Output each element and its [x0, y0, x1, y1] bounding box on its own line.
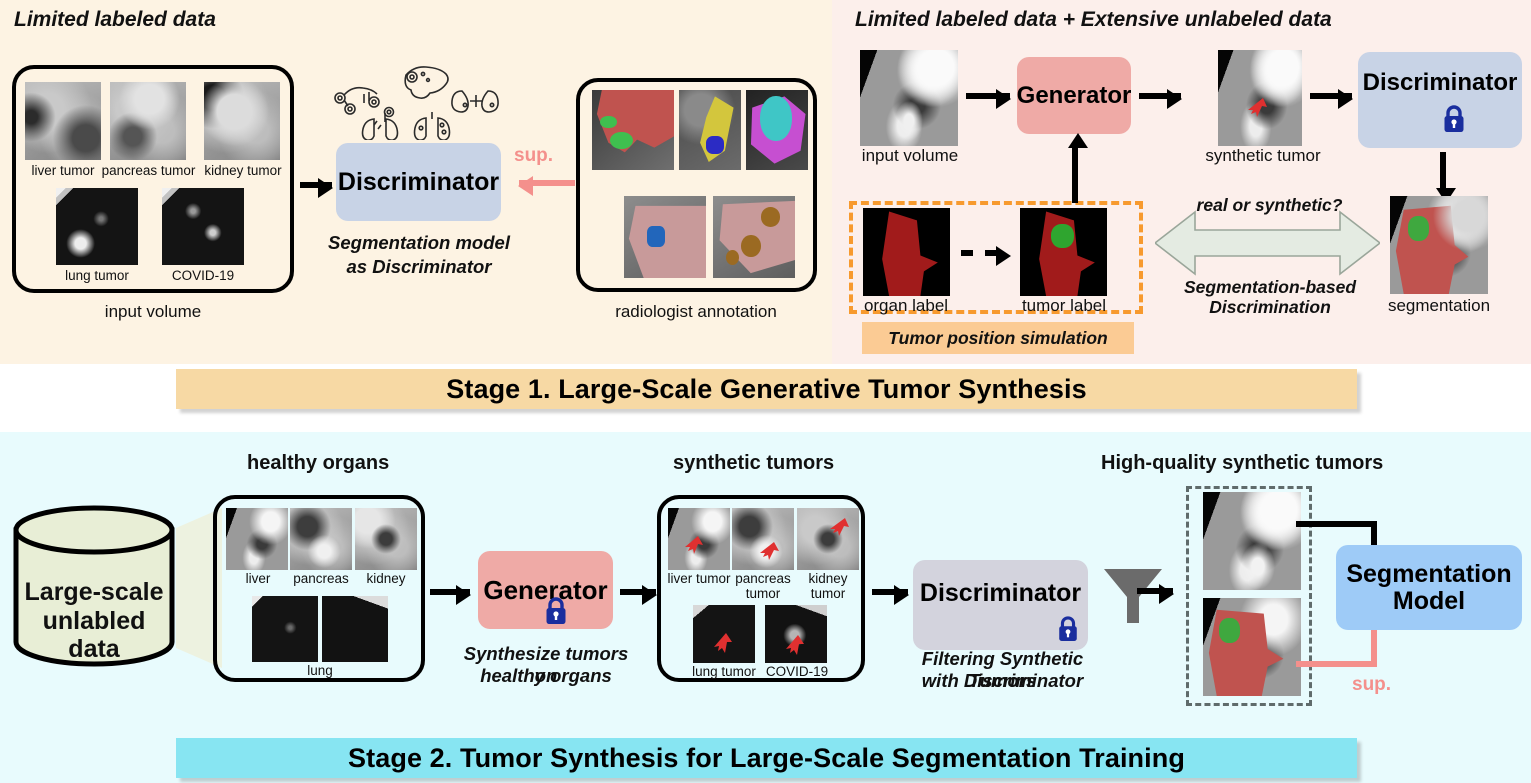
caption-liver-tumor: liver tumor [13, 163, 113, 178]
tile-hq-synthetic-ct [1203, 492, 1301, 590]
real-or-synthetic-label: real or synthetic? [1172, 195, 1367, 216]
caption-lung-tumor: lung tumor [52, 268, 142, 283]
tile-healthy-pancreas [290, 508, 352, 570]
arrow-funnel-to-highquality [1137, 588, 1173, 594]
caption-organ-label: organ label [850, 296, 962, 316]
tile-synth-pancreas-tumor [732, 508, 794, 570]
lung-left-icon [363, 108, 398, 141]
arrow-input-to-generator [966, 93, 1010, 99]
caption-synthetic-tumor: synthetic tumor [1196, 146, 1330, 166]
stage1-left-heading: Limited labeled data [14, 8, 216, 32]
lock-icon-discriminator-stage2 [1056, 614, 1080, 649]
caption-synth-lung-tumor: lung tumor [686, 664, 762, 679]
tile-healthy-kidney [355, 508, 417, 570]
segmentation-model-line2: Model [1393, 588, 1465, 615]
stage1-banner: Stage 1. Large-Scale Generative Tumor Sy… [176, 369, 1357, 409]
tile-synthetic-tumor [1218, 50, 1302, 146]
segmentation-model-line1: Segmentation [1346, 561, 1511, 588]
organ-icons-cluster [322, 55, 512, 140]
red-arrow-marker-covid [765, 605, 827, 663]
caption-healthy-liver: liver [228, 571, 288, 586]
segmentation-model-box[interactable]: Segmentation Model [1336, 545, 1522, 630]
generator-box-stage1[interactable]: Generator [1017, 57, 1131, 134]
caption-pancreas-tumor: pancreas tumor [100, 163, 197, 178]
red-arrow-marker-synthetic [1218, 50, 1302, 146]
caption-healthy-pancreas: pancreas [286, 571, 356, 586]
high-quality-heading: High-quality synthetic tumors [1101, 452, 1383, 475]
caption-synth-liver-tumor: liver tumor [663, 571, 735, 586]
annot-lung-tumor-tile [624, 196, 706, 278]
discriminator-box-stage1[interactable]: Discriminator [336, 143, 501, 221]
caption-synth-kidney-tumor: kidney tumor [793, 571, 863, 601]
caption-covid19: COVID-19 [158, 268, 248, 283]
tile-kidney-tumor [204, 82, 280, 160]
database-label-line1: Large-scale [25, 578, 164, 606]
annot-kidney-tile [746, 90, 808, 170]
caption-synth-pancreas-tumor: pancreas tumor [728, 571, 798, 601]
caption-pipeline-input-volume: input volume [845, 146, 975, 166]
arrow-organs-to-generator [430, 589, 470, 595]
stage1-right-heading: Limited labeled data + Extensive unlabel… [855, 8, 1332, 32]
lock-icon-discriminator-pipeline [1441, 103, 1467, 140]
caption-segmentation: segmentation [1376, 296, 1502, 316]
arrow-generator-to-synthetic-tumors [620, 589, 656, 595]
annot-pancreas-tile [679, 90, 741, 170]
arrow-synthetic-to-discriminator-stage2 [872, 589, 908, 595]
supervision-label-stage1: sup. [514, 145, 553, 167]
arrow-synthetic-to-discriminator [1310, 93, 1352, 99]
discriminator-box-pipeline[interactable]: Discriminator [1358, 52, 1522, 148]
tile-segmentation-result [1390, 196, 1488, 294]
discriminator-caption-line2: as Discriminator [318, 256, 520, 278]
tile-synth-liver-tumor [668, 508, 730, 570]
discriminator-caption-line1: Segmentation model [318, 232, 520, 254]
figure-root: Limited labeled data liver tumor pancrea… [0, 0, 1531, 783]
lock-icon-generator-stage2 [543, 595, 569, 632]
caption-synth-covid19: COVID-19 [760, 664, 834, 679]
red-arrow-marker-kidney [797, 508, 859, 570]
database-label-line2: unlabled data [43, 607, 146, 664]
synthetic-tumors-heading: synthetic tumors [673, 452, 834, 475]
annot-lung-nodules-tile [713, 196, 795, 278]
tile-synth-kidney-tumor [797, 508, 859, 570]
tile-liver-tumor [25, 82, 101, 160]
discrimination-label-line2: Discrimination [1160, 297, 1380, 318]
arrow-discriminator-to-segmentation [1440, 152, 1446, 188]
tile-healthy-lung-left [252, 596, 318, 662]
caption-healthy-lung: lung [288, 663, 352, 678]
funnel-icon [1100, 565, 1166, 632]
tile-tumor-label [1020, 208, 1107, 296]
caption-tumor-label: tumor label [1008, 296, 1120, 316]
tile-lung-tumor [56, 188, 138, 265]
supervision-label-stage2: sup. [1352, 674, 1391, 696]
generator-caption-line2: healthy organs [462, 665, 630, 687]
kidney-icon [452, 91, 498, 112]
red-arrow-marker-lung [693, 605, 755, 663]
tile-pancreas-tumor [110, 82, 186, 160]
arrow-supervision-stage1 [519, 180, 575, 186]
caption-input-volume-group: input volume [70, 302, 236, 322]
discrimination-label-line1: Segmentation-based [1160, 277, 1380, 298]
tile-healthy-liver [226, 508, 288, 570]
tile-covid19 [162, 188, 244, 265]
pancreas-icon [335, 88, 379, 114]
tile-pipeline-input-volume [860, 50, 958, 146]
tile-synth-covid19 [765, 605, 827, 663]
caption-healthy-kidney: kidney [355, 571, 417, 586]
discriminator-caption-stage2-line2: with Discriminator [895, 670, 1110, 692]
arrow-tumorlabel-to-generator [1072, 148, 1078, 203]
healthy-organs-heading: healthy organs [247, 452, 389, 475]
arrow-generator-to-synthetic [1139, 93, 1181, 99]
annot-liver-tile [592, 90, 674, 170]
tile-healthy-lung-right [322, 596, 388, 662]
caption-radiologist-annotation: radiologist annotation [565, 302, 827, 322]
red-arrow-marker-liver [668, 508, 730, 570]
tile-organ-label [863, 208, 950, 296]
arrow-input-to-discriminator [300, 182, 332, 188]
tumor-position-simulation-banner: Tumor position simulation [862, 322, 1134, 354]
tile-hq-segmented-ct [1203, 598, 1301, 696]
dashed-arrow-organ-to-tumor [961, 250, 997, 256]
liver-icon [405, 67, 448, 98]
tile-synth-lung-tumor [693, 605, 755, 663]
caption-kidney-tumor: kidney tumor [200, 163, 286, 178]
red-arrow-marker-pancreas [732, 508, 794, 570]
lung-right-icon [415, 112, 450, 140]
stage2-banner: Stage 2. Tumor Synthesis for Large-Scale… [176, 738, 1357, 778]
